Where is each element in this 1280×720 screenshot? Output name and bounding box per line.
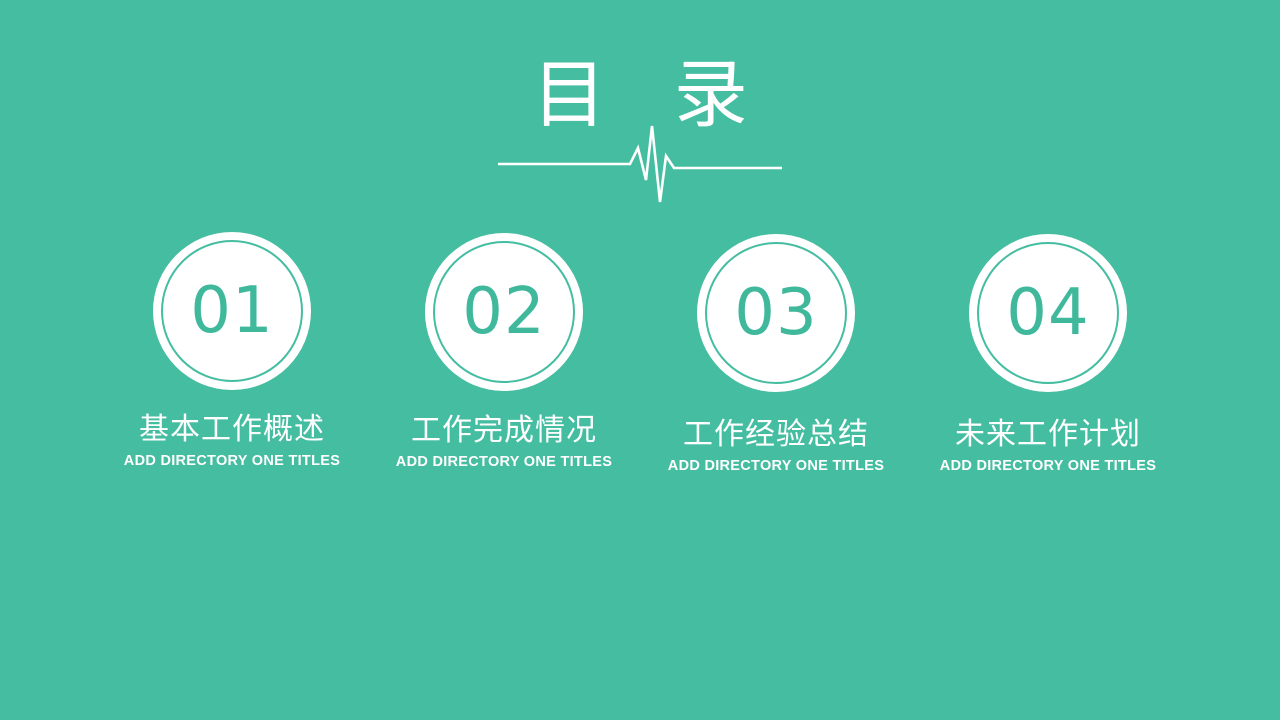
- item-subtitle-02: ADD DIRECTORY ONE TITLES: [396, 453, 612, 471]
- item-subtitle-01: ADD DIRECTORY ONE TITLES: [124, 452, 340, 470]
- number-circle-04[interactable]: 04: [969, 234, 1127, 392]
- item-title-03: 工作经验总结: [683, 417, 869, 453]
- catalog-slide: 目 录 01 基本工作概述 ADD DIRECTORY ONE TITLES 0…: [0, 0, 1280, 720]
- item-title-02: 工作完成情况: [411, 413, 597, 449]
- item-subtitle-03: ADD DIRECTORY ONE TITLES: [668, 457, 884, 475]
- catalog-item-03[interactable]: 03 工作经验总结 ADD DIRECTORY ONE TITLES: [640, 232, 912, 475]
- catalog-item-01[interactable]: 01 基本工作概述 ADD DIRECTORY ONE TITLES: [96, 232, 368, 470]
- item-title-01: 基本工作概述: [139, 412, 325, 448]
- number-circle-02[interactable]: 02: [425, 233, 583, 391]
- catalog-item-02[interactable]: 02 工作完成情况 ADD DIRECTORY ONE TITLES: [368, 232, 640, 471]
- number-circle-01[interactable]: 01: [153, 232, 311, 390]
- item-title-04: 未来工作计划: [955, 417, 1141, 453]
- catalog-items: 01 基本工作概述 ADD DIRECTORY ONE TITLES 02 工作…: [96, 232, 1184, 475]
- catalog-item-04[interactable]: 04 未来工作计划 ADD DIRECTORY ONE TITLES: [912, 232, 1184, 475]
- circle-number-label: 02: [462, 280, 545, 344]
- circle-number-label: 01: [190, 279, 273, 343]
- circle-number-label: 04: [1006, 281, 1089, 345]
- circle-number-label: 03: [734, 281, 817, 345]
- heartbeat-line-icon: [490, 118, 790, 210]
- item-subtitle-04: ADD DIRECTORY ONE TITLES: [940, 457, 1156, 475]
- number-circle-03[interactable]: 03: [697, 234, 855, 392]
